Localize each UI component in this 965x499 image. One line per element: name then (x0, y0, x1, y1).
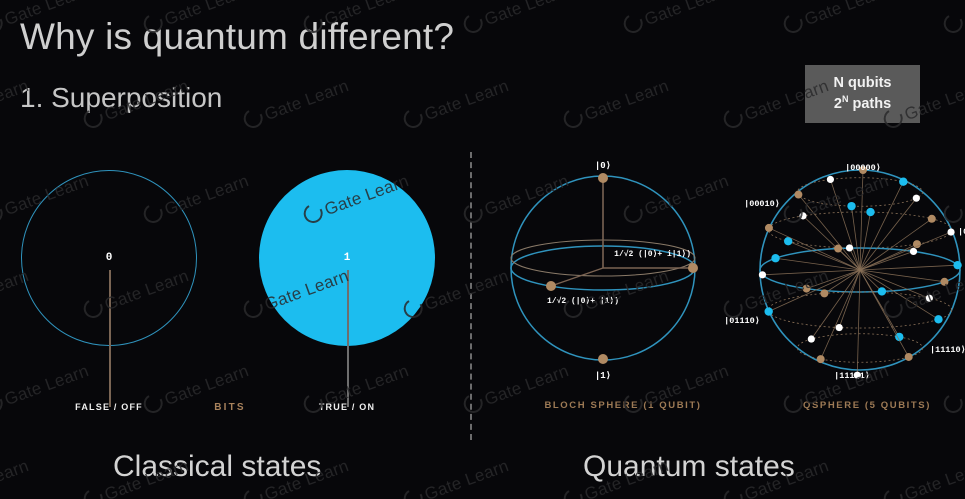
qsphere-point (799, 212, 806, 219)
watermark-logo-icon (942, 12, 965, 35)
page-subtitle: 1. Superposition (20, 82, 222, 114)
watermark-text: Gate Learn (460, 0, 572, 38)
qsphere-label-top: |00000⟩ (845, 163, 881, 173)
qsphere-point (866, 208, 874, 216)
qsphere-spoke (860, 270, 938, 319)
qsphere-spoke (860, 265, 958, 270)
bloch-sphere-caption: BLOCH SPHERE (1 QUBIT) (523, 400, 723, 411)
qsphere-point (794, 191, 802, 199)
qsphere-point (817, 355, 825, 363)
qsphere-point (820, 289, 828, 297)
watermark-logo-icon (722, 487, 745, 499)
qsphere-point (759, 271, 766, 278)
qsphere-spoke (806, 270, 860, 289)
watermark-logo-icon (722, 107, 745, 130)
badge-base: 2 (834, 96, 842, 112)
watermark-text: Gate Learn (240, 72, 352, 132)
classical-bit-one: 1 TRUE / ON (259, 150, 439, 440)
qsphere-figure: |00000⟩ |00010⟩ |01001⟩ |01110⟩ |11110⟩ … (730, 150, 965, 410)
watermark-text: Gate Learn (620, 0, 732, 38)
watermark-text: Gate Learn (400, 72, 512, 132)
qsphere-spoke (860, 270, 944, 282)
bit-one-stem (347, 270, 349, 407)
bloch-point-zero (598, 173, 608, 183)
qsphere-point (834, 245, 842, 253)
watermark-logo-icon (562, 487, 585, 499)
qsphere-label-lower-right: |11110⟩ (930, 345, 965, 355)
qsphere-point (847, 202, 855, 210)
qsphere-point (926, 295, 933, 302)
watermark-logo-icon (82, 487, 105, 499)
classical-states-caption: Classical states (113, 450, 321, 484)
badge-line-2: 2N paths (834, 94, 891, 113)
bit-zero-stem (109, 270, 111, 407)
watermark-text: Gate Learn (880, 452, 965, 499)
qsphere-spoke (762, 270, 860, 275)
qsphere-spoke (860, 182, 903, 270)
watermark-text: Gate Learn (560, 72, 672, 132)
bloch-label-right: 1/√2 (|0⟩+ i|1⟩) (614, 249, 691, 259)
qsphere-point (808, 335, 815, 342)
classical-states-panel: 0 FALSE / OFF BITS 1 TRUE / ON (0, 150, 460, 440)
qsphere-point (836, 324, 843, 331)
qsphere-point (940, 278, 948, 286)
watermark-logo-icon (782, 12, 805, 35)
watermark-logo-icon (242, 107, 265, 130)
bloch-y-axis (551, 268, 603, 286)
qsphere-spoke (839, 270, 860, 328)
qsphere-point (899, 177, 907, 185)
page-title: Why is quantum different? (20, 16, 454, 58)
watermark-logo-icon (402, 107, 425, 130)
bloch-point-plus (546, 281, 556, 291)
watermark-logo-icon (242, 487, 265, 499)
qsphere-point (878, 287, 886, 295)
badge-suffix: paths (848, 96, 891, 112)
qsphere-spoke (860, 270, 929, 298)
badge-line-1: N qubits (834, 75, 892, 92)
bit-zero-value: 0 (21, 252, 197, 264)
qsphere-point (827, 176, 834, 183)
watermark-logo-icon (562, 107, 585, 130)
qsphere-point (765, 224, 773, 232)
qsphere-point (953, 261, 961, 269)
qsphere-spoke (857, 270, 860, 375)
bit-one-value: 1 (259, 252, 435, 264)
qsphere-point (928, 215, 936, 223)
qsphere-latitude-ring (768, 212, 951, 248)
watermark-text: Gate Learn (400, 452, 512, 499)
classical-bit-zero: 0 FALSE / OFF (21, 150, 201, 440)
bloch-sphere-figure: |0⟩ |1⟩ 1/√2 (|0⟩+ i|1⟩) 1/√2 (|0⟩+ |1⟩) (485, 150, 735, 410)
qsphere-spoke (860, 270, 909, 357)
watermark-text: Gate Learn (940, 0, 965, 38)
qsphere-point (910, 248, 917, 255)
qsphere-point (913, 195, 920, 202)
watermark-text: Gate Learn (780, 0, 892, 38)
bloch-label-top: |0⟩ (595, 161, 611, 171)
watermark-logo-icon (0, 12, 5, 35)
bloch-point-one (598, 354, 608, 364)
qsphere-label-lower-left: |01110⟩ (724, 316, 760, 326)
watermark-logo-icon (402, 487, 425, 499)
watermark-text: Gate Learn (0, 452, 32, 499)
bloch-label-left: 1/√2 (|0⟩+ |1⟩) (547, 296, 619, 306)
qsphere-point (913, 240, 921, 248)
watermark-logo-icon (882, 487, 905, 499)
slide-canvas: Gate LearnGate LearnGate LearnGate Learn… (0, 0, 965, 499)
qsphere-label-right: |01001⟩ (958, 227, 965, 237)
qsphere-caption: QSPHERE (5 QUBITS) (767, 400, 965, 411)
watermark-logo-icon (462, 12, 485, 35)
qsphere-point (846, 244, 853, 251)
qubit-paths-badge: N qubits 2N paths (805, 65, 920, 123)
quantum-states-panel: |0⟩ |1⟩ 1/√2 (|0⟩+ i|1⟩) 1/√2 (|0⟩+ |1⟩)… (480, 150, 965, 440)
qsphere-point (905, 353, 913, 361)
panel-divider (470, 152, 472, 440)
bit-one-label: TRUE / ON (239, 402, 455, 412)
qsphere-label-bottom: |11111⟩ (834, 371, 870, 381)
qsphere-label-upper-left: |00010⟩ (744, 199, 780, 209)
watermark-logo-icon (622, 12, 645, 35)
qsphere-point (802, 285, 810, 293)
bloch-point-plus-i (688, 263, 698, 273)
quantum-states-caption: Quantum states (583, 450, 795, 484)
qsphere-point (771, 254, 779, 262)
qsphere-point (947, 228, 954, 235)
qsphere-point (764, 307, 772, 315)
qsphere-spoke (769, 270, 860, 312)
qsphere-point (934, 315, 942, 323)
qsphere-spoke (811, 270, 860, 339)
bloch-label-bottom: |1⟩ (595, 371, 611, 381)
